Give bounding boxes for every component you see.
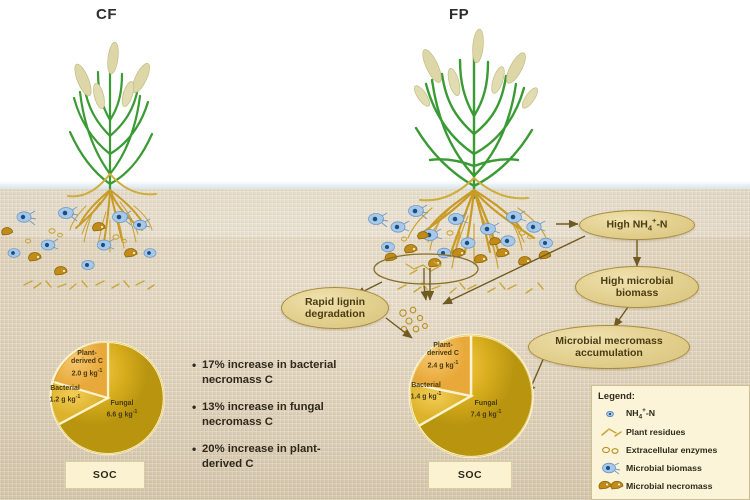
list-item: • 20% increase in plant- derived C bbox=[192, 442, 382, 471]
pie-cf-fungal-label: Fungal 6.6 g kg-1 bbox=[96, 400, 148, 420]
ammonium-ion-icon bbox=[598, 406, 626, 422]
node-high-microbial-biomass[interactable]: High microbial biomass bbox=[575, 266, 699, 308]
legend-title: Legend: bbox=[598, 391, 743, 402]
legend-item-extracellular-enzymes: Extracellular enzymes bbox=[598, 441, 743, 459]
microbial-biomass-icon bbox=[598, 460, 626, 476]
bullet-1-line2: necromass C bbox=[202, 374, 273, 386]
pie-fp-bacterial-label: Bacterial 1.4 g kg-1 bbox=[400, 382, 452, 402]
legend-item-microbial-biomass: Microbial biomass bbox=[598, 459, 743, 477]
bullet-dot-icon: • bbox=[192, 358, 202, 387]
legend-item-plant-residues: Plant residues bbox=[598, 423, 743, 441]
pie-fp-plant-label: Plant- derived C 2.4 g kg-1 bbox=[412, 342, 474, 371]
bullet-dot-icon: • bbox=[192, 400, 202, 429]
list-item: • 13% increase in fungal necromass C bbox=[192, 400, 382, 429]
bullet-2-line2: necromass C bbox=[202, 416, 273, 428]
node-rapid-lignin-line2: degradation bbox=[305, 308, 365, 320]
node-rapid-lignin-degradation[interactable]: Rapid lignin degradation bbox=[281, 287, 389, 329]
legend-label-plant-residues: Plant residues bbox=[626, 427, 685, 437]
arrow-ring-down bbox=[424, 286, 426, 300]
arrow-nh4-to-root bbox=[443, 236, 585, 304]
legend-label-extracellular-enzymes: Extracellular enzymes bbox=[626, 445, 717, 455]
node-high-nh4-n[interactable]: High NH4+-NHigh NH4+-N bbox=[579, 210, 695, 240]
node-microbial-mecromass-line2: accumulation bbox=[575, 347, 643, 359]
legend: Legend: NH4+-N Plant residues Extracellu… bbox=[591, 385, 750, 500]
legend-item-microbial-necromass: Microbial necromass bbox=[598, 477, 743, 495]
extracellular-enzymes-icon bbox=[598, 442, 626, 458]
soc-label-cf: SOC bbox=[65, 461, 145, 489]
node-high-microbial-biomass-line2: biomass bbox=[616, 287, 659, 299]
node-high-nh4-n-label: High NH4+-NHigh NH4+-N bbox=[606, 215, 667, 235]
legend-label-microbial-biomass: Microbial biomass bbox=[626, 463, 702, 473]
node-microbial-mecromass-line1: Microbial mecromass bbox=[555, 335, 662, 347]
diagram-canvas: CF FP bbox=[0, 0, 750, 500]
legend-label-microbial-necromass: Microbial necromass bbox=[626, 481, 712, 491]
node-microbial-mecromass-accumulation[interactable]: Microbial mecromass accumulation bbox=[528, 325, 690, 369]
bullet-3-line1: 20% increase in plant- bbox=[202, 443, 321, 455]
list-item: • 17% increase in bacterial necromass C bbox=[192, 358, 382, 387]
arrow-biomass-to-mecromass bbox=[614, 307, 628, 327]
node-rapid-lignin-line1: Rapid lignin bbox=[305, 296, 365, 308]
legend-item-nh4: NH4+-N bbox=[598, 405, 743, 423]
pie-fp-fungal-label: Fungal 7.4 g kg-1 bbox=[459, 400, 513, 420]
soc-label-fp: SOC bbox=[428, 461, 512, 489]
bullet-3-line2: derived C bbox=[202, 458, 253, 470]
legend-label-nh4: NH4+-N bbox=[626, 407, 655, 421]
node-high-microbial-biomass-line1: High microbial bbox=[601, 275, 674, 287]
pie-cf-bacterial-label: Bacterial 1.2 g kg-1 bbox=[40, 385, 90, 405]
microbial-necromass-icon bbox=[598, 478, 626, 494]
bullet-1-line1: 17% increase in bacterial bbox=[202, 359, 336, 371]
plant-residues-icon bbox=[598, 424, 626, 440]
bullet-2-line1: 13% increase in fungal bbox=[202, 401, 324, 413]
bullet-dot-icon: • bbox=[192, 442, 202, 471]
pie-cf-plant-label: Plant- derived C 2.0 g kg-1 bbox=[56, 350, 118, 379]
findings-list: • 17% increase in bacterial necromass C … bbox=[192, 358, 382, 484]
